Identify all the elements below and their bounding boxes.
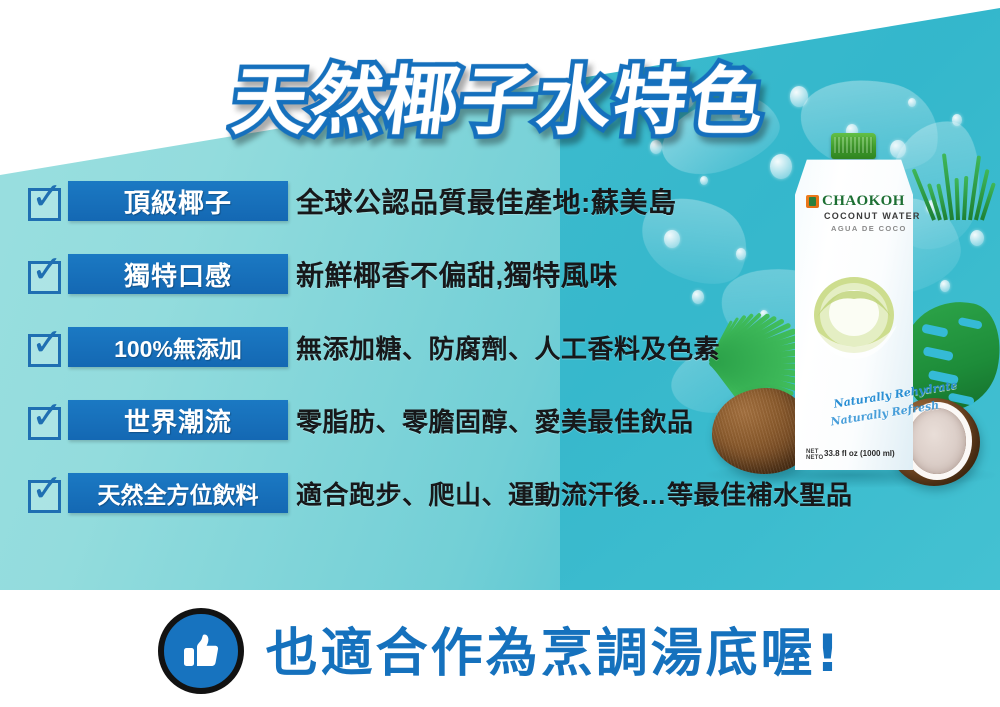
feature-row[interactable]: ✓ 天然全方位飲料 適合跑步、爬山、運動流汗後…等最佳補水聖品	[0, 472, 1000, 545]
poster-root: 天然椰子水特色 CHAOKOH COCONUT WATER AGUA DE CO…	[0, 0, 1000, 707]
feature-tag: 世界潮流	[68, 400, 288, 440]
feature-row[interactable]: ✓ 頂級椰子 全球公認品質最佳產地:蘇美島	[0, 180, 1000, 253]
check-box-icon: ✓	[28, 407, 61, 440]
feature-description: 零脂肪、零膽固醇、愛美最佳飲品	[296, 399, 694, 441]
check-mark-icon: ✓	[30, 396, 64, 434]
check-box-icon: ✓	[28, 261, 61, 294]
bottom-banner: 也適合作為烹調湯底喔!	[0, 590, 1000, 707]
feature-row[interactable]: ✓ 世界潮流 零脂肪、零膽固醇、愛美最佳飲品	[0, 399, 1000, 472]
package-cap	[831, 133, 876, 159]
feature-tag: 頂級椰子	[68, 181, 288, 221]
feature-tag: 100%無添加	[68, 327, 288, 367]
banner-text: 也適合作為烹調湯底喔!	[266, 611, 843, 686]
check-mark-icon: ✓	[30, 250, 64, 288]
check-box-icon: ✓	[28, 188, 61, 221]
feature-row[interactable]: ✓ 獨特口感 新鮮椰香不偏甜,獨特風味	[0, 253, 1000, 326]
thumbs-up-icon	[158, 608, 244, 694]
check-mark-icon: ✓	[30, 323, 64, 361]
thumbs-up-glyph	[158, 608, 244, 694]
feature-description: 無添加糖、防腐劑、人工香料及色素	[296, 326, 720, 368]
check-box-icon: ✓	[28, 334, 61, 367]
feature-description: 新鮮椰香不偏甜,獨特風味	[296, 253, 618, 295]
feature-description: 適合跑步、爬山、運動流汗後…等最佳補水聖品	[296, 472, 853, 514]
feature-tag: 獨特口感	[68, 254, 288, 294]
feature-tag: 天然全方位飲料	[68, 473, 288, 513]
check-box-icon: ✓	[28, 480, 61, 513]
check-mark-icon: ✓	[30, 177, 64, 215]
feature-list: ✓ 頂級椰子 全球公認品質最佳產地:蘇美島 ✓ 獨特口感 新鮮椰香不偏甜,獨特風…	[0, 180, 1000, 545]
check-mark-icon: ✓	[30, 469, 64, 507]
feature-description: 全球公認品質最佳產地:蘇美島	[296, 180, 676, 222]
feature-row[interactable]: ✓ 100%無添加 無添加糖、防腐劑、人工香料及色素	[0, 326, 1000, 399]
